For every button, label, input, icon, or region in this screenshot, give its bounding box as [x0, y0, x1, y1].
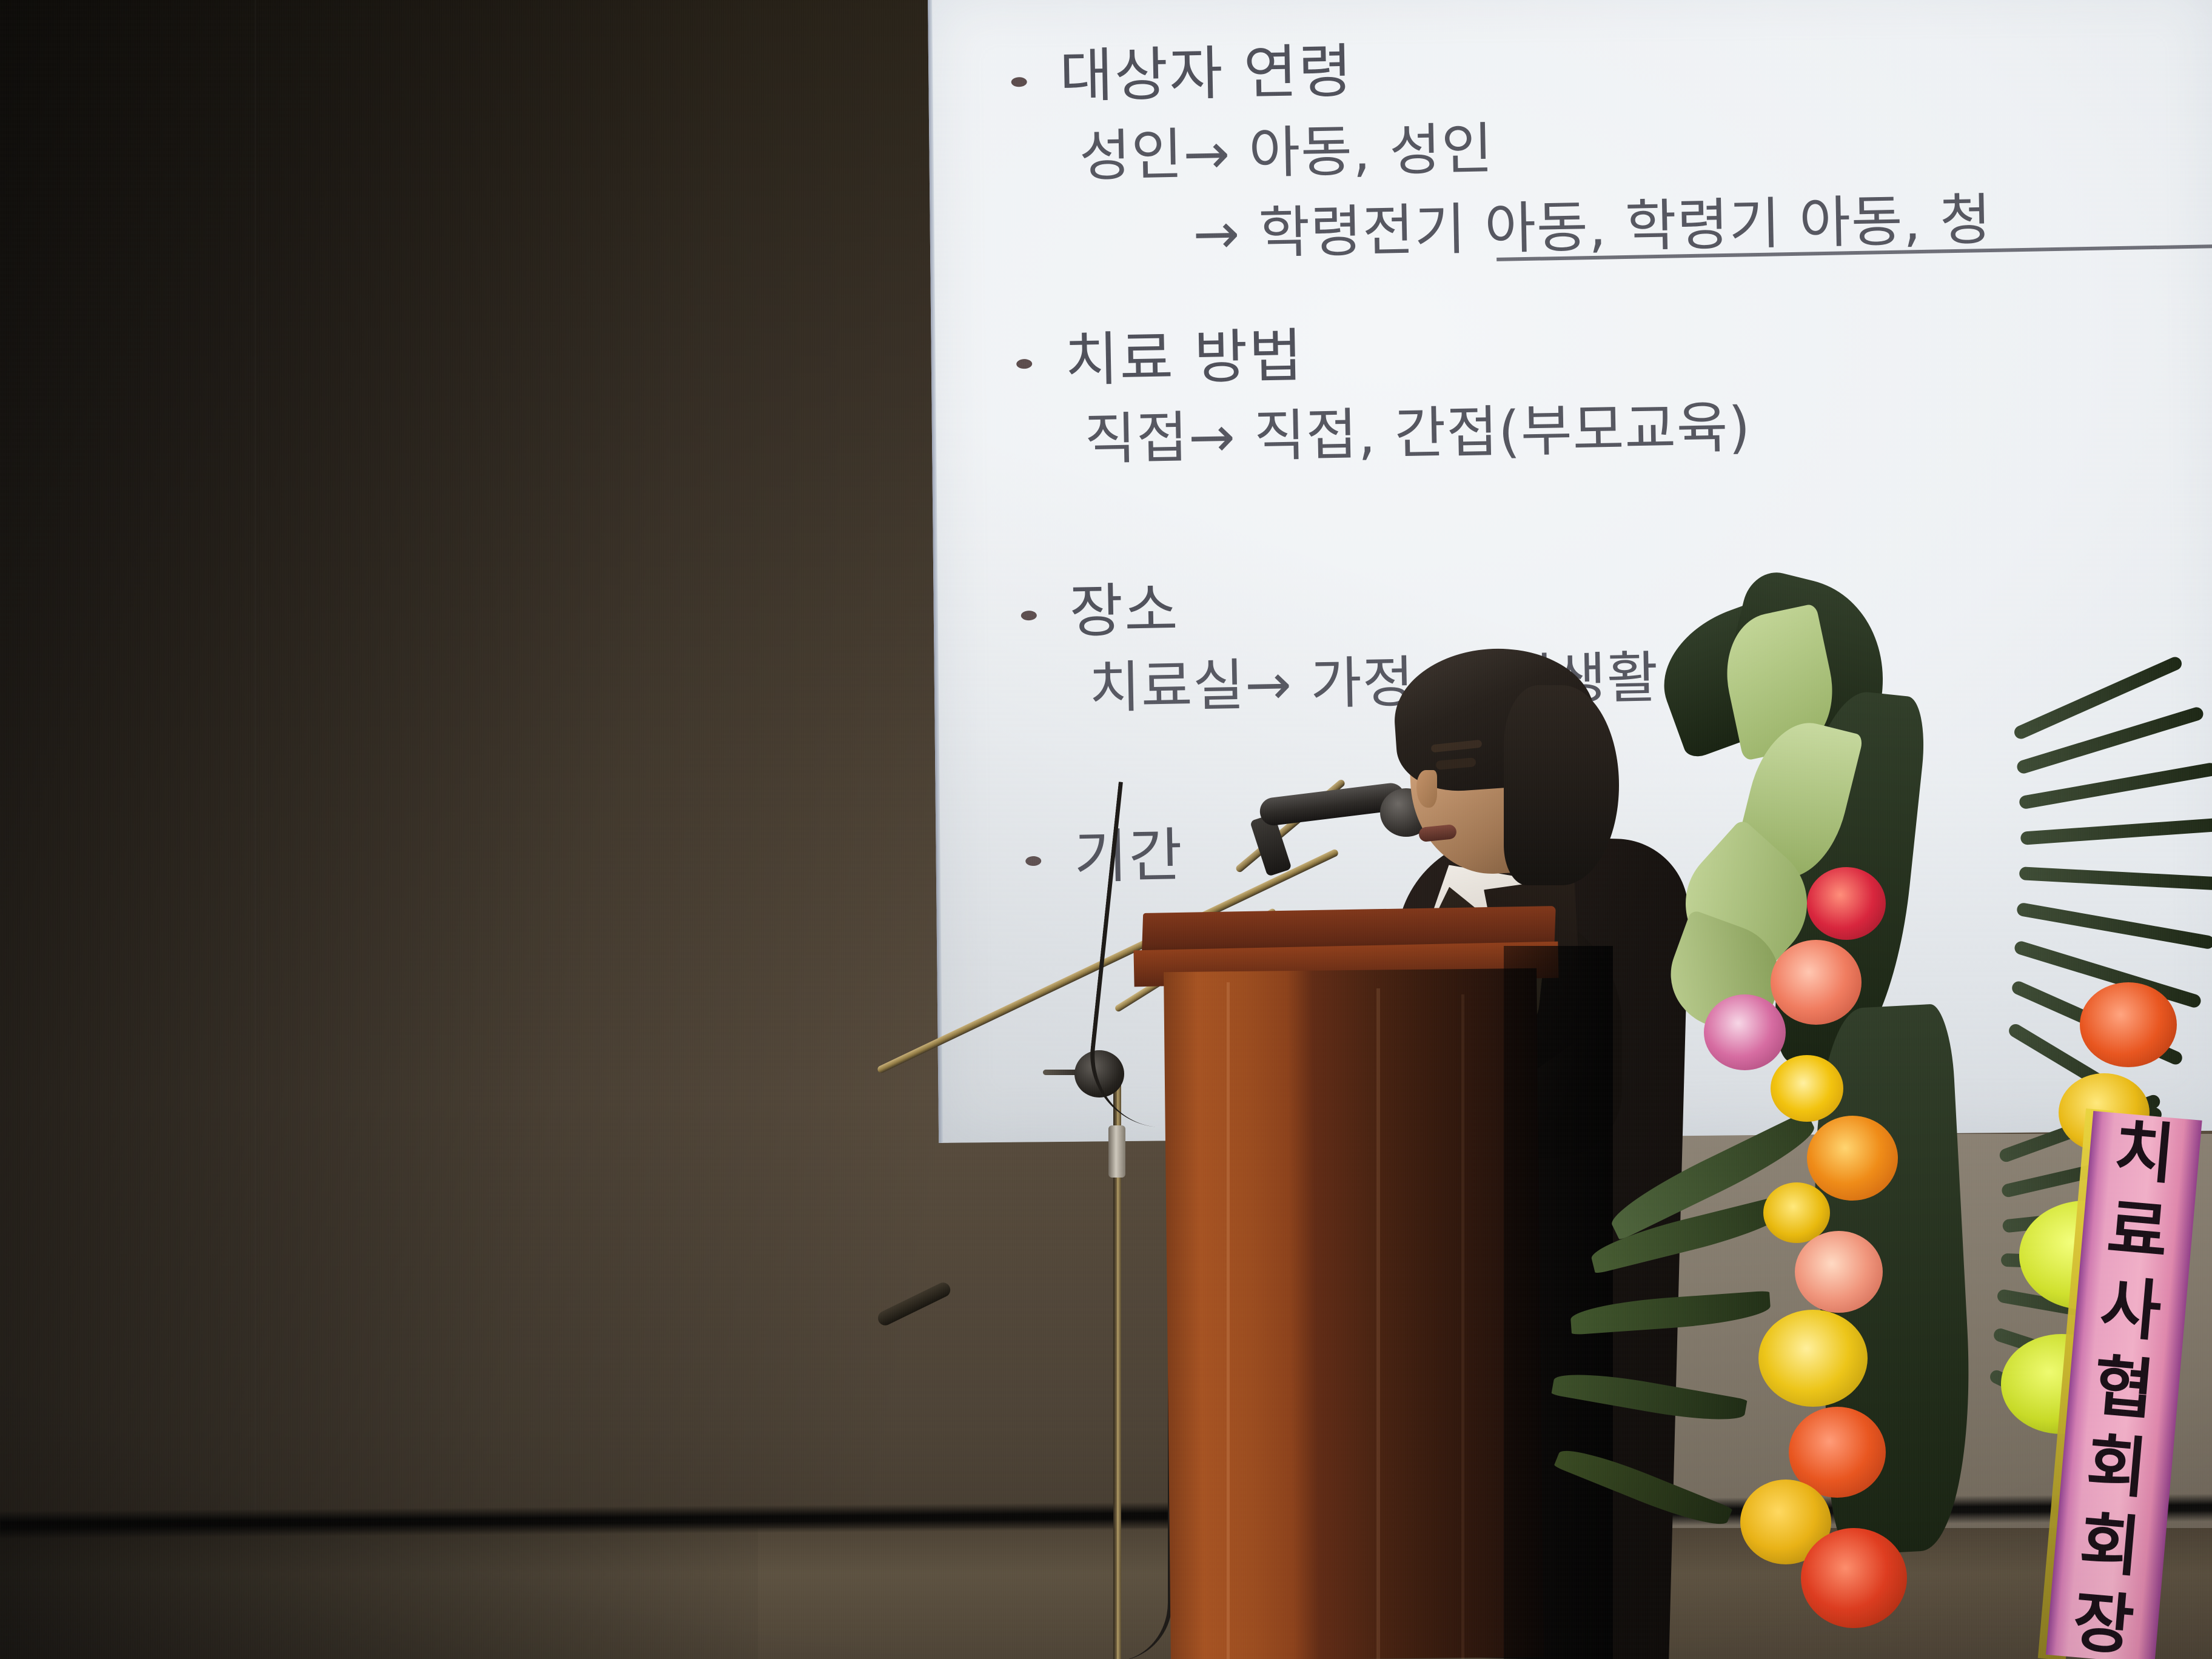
ribbon-char-3: 사: [2074, 1272, 2188, 1347]
podium-groove: [1376, 988, 1380, 1659]
gerbera-red: [1807, 867, 1886, 940]
lily-pink: [1704, 994, 1786, 1070]
ribbon-char-1: 치: [2087, 1114, 2202, 1190]
photo-scene: 대상자 연령 성인→ 아동, 성인 → 학령전기 아동, 학령기 아동, 청 치…: [0, 0, 2212, 1659]
ribbon-char-4: 협: [2066, 1350, 2181, 1426]
palm-frond-upper: [2007, 679, 2212, 1140]
ribbon-char-2: 료: [2080, 1193, 2195, 1269]
chrysanthemum-orange: [1807, 1116, 1898, 1201]
mic-cable-lower: [1113, 1128, 1172, 1659]
gerbera-orange: [2080, 982, 2177, 1067]
chrysanthemum-yellow: [1758, 1310, 1868, 1407]
gerbera-peach: [1771, 940, 1862, 1025]
speaker-nose: [1416, 770, 1437, 808]
podium-groove: [1461, 994, 1464, 1659]
wall-seam: [255, 0, 256, 1659]
ribbon-char-5: 회: [2060, 1429, 2174, 1504]
gerbera-peach: [1795, 1231, 1883, 1313]
gerbera-red: [1801, 1528, 1907, 1628]
chrysanthemum-yellow: [1771, 1055, 1843, 1122]
podium-groove: [1227, 982, 1230, 1659]
ribbon-char-7: 장: [2046, 1586, 2160, 1659]
blade-leaf: [1570, 1291, 1772, 1335]
podium-column: [1164, 968, 1544, 1659]
ribbon-char-6: 회: [2053, 1507, 2168, 1583]
chrysanthemum-yellow: [1763, 1182, 1830, 1243]
stage-floor-shadow: [0, 1528, 758, 1659]
